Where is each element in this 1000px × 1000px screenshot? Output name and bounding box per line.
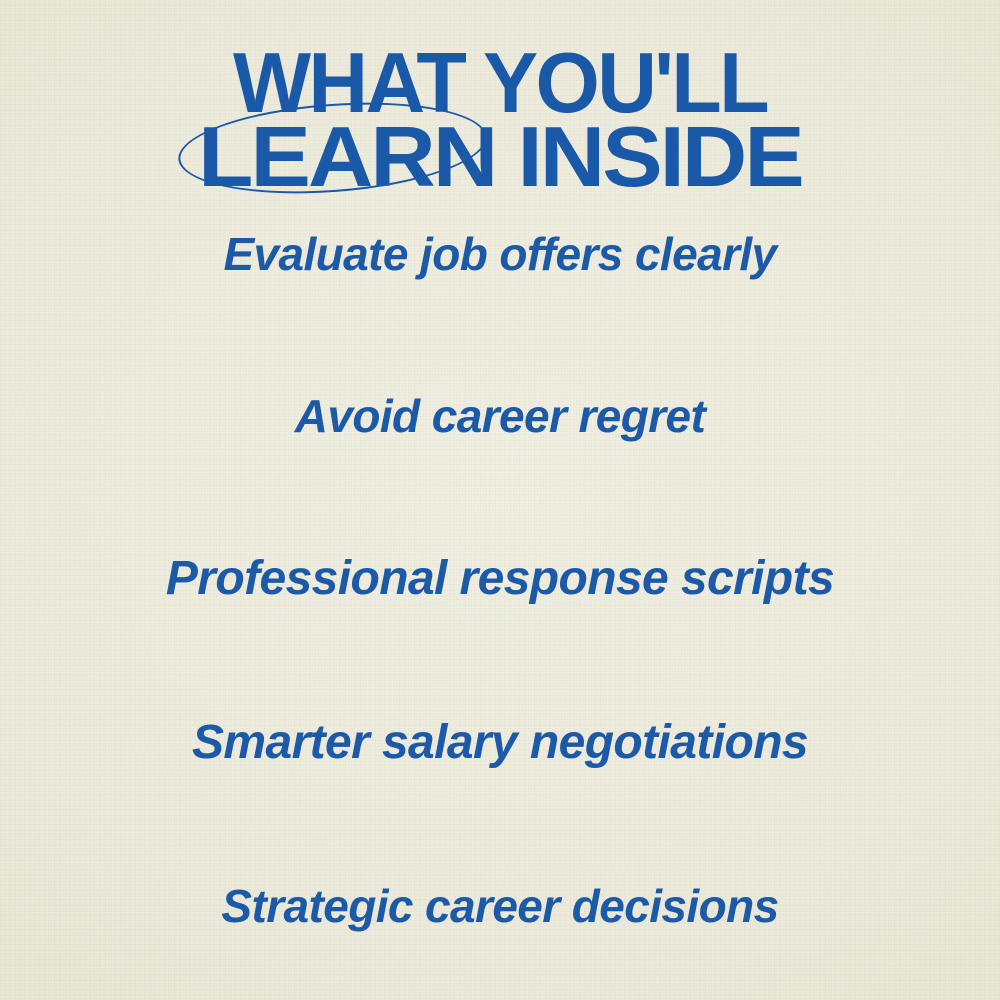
list-item: Avoid career regret [0,392,1000,440]
list-item: Smarter salary negotiations [0,718,1000,768]
list-item: Evaluate job offers clearly [0,230,1000,278]
page-title: WHAT YOU'LL LEARN INSIDE [0,44,1000,190]
promo-slide: WHAT YOU'LL LEARN INSIDE Evaluate job of… [0,0,1000,1000]
list-item: Strategic career decisions [0,882,1000,930]
list-item: Professional response scripts [0,554,1000,604]
benefits-list: Evaluate job offers clearly Avoid career… [0,230,1000,930]
headline-line-2: LEARN INSIDE [0,118,1000,197]
